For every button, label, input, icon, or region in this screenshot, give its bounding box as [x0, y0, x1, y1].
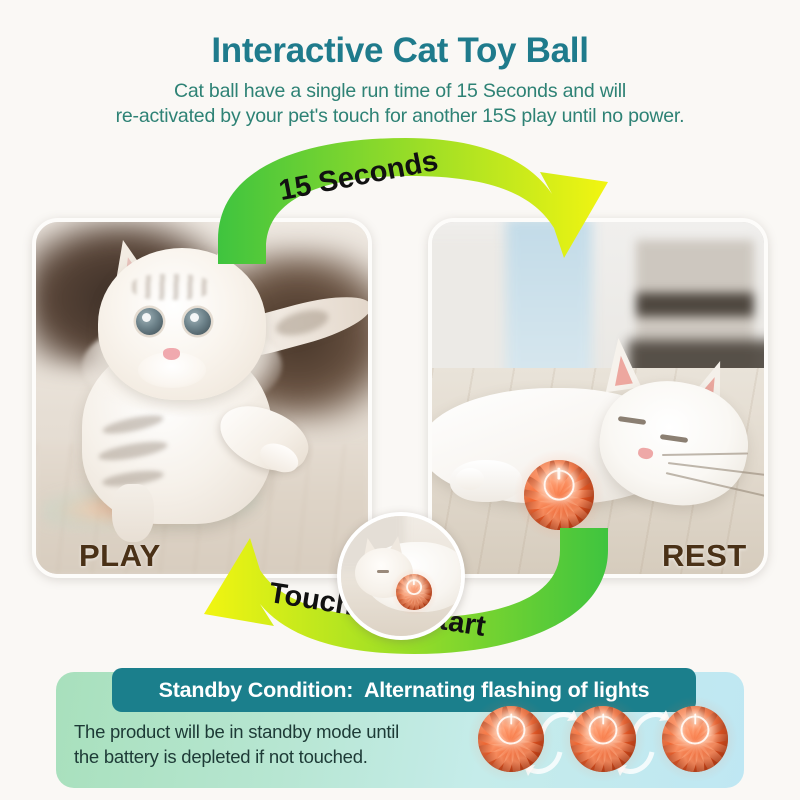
- kitten-eye-left: [136, 308, 163, 335]
- power-icon: [588, 715, 617, 744]
- rest-photo: [432, 222, 764, 574]
- standby-description-line-1: The product will be in standby mode unti…: [74, 720, 494, 745]
- play-photo: [36, 222, 368, 574]
- standby-condition-panel: Standby Condition: Alternating flashing …: [56, 672, 744, 788]
- rest-photo-panel: REST: [428, 218, 768, 578]
- standby-description: The product will be in standby mode unti…: [74, 720, 494, 769]
- subtitle-line-1: Cat ball have a single run time of 15 Se…: [0, 79, 800, 105]
- power-icon: [496, 715, 525, 744]
- page-title: Interactive Cat Toy Ball: [0, 32, 800, 71]
- power-icon: [406, 579, 422, 595]
- cat-toy-ball: [396, 574, 432, 610]
- page-subtitle: Cat ball have a single run time of 15 Se…: [0, 79, 800, 130]
- kitten-eye-right: [184, 308, 211, 335]
- standby-ball-3: [662, 706, 728, 772]
- power-icon: [544, 470, 575, 501]
- touch-to-restart-inset-photo: [337, 512, 465, 640]
- standby-description-line-2: the battery is depleted if not touched.: [74, 745, 494, 770]
- top-flow-arrow: [210, 136, 610, 264]
- cat-paw: [450, 460, 522, 502]
- header: Interactive Cat Toy Ball Cat ball have a…: [0, 0, 800, 130]
- top-arrow-shape: [218, 138, 608, 264]
- cat-toy-ball: [524, 460, 594, 530]
- inset-cat-eye: [377, 570, 389, 573]
- power-icon: [680, 715, 709, 744]
- rest-state-label: REST: [662, 538, 747, 574]
- cat-ear-left: [599, 336, 642, 393]
- play-photo-panel: PLAY: [32, 218, 372, 578]
- play-state-label: PLAY: [79, 538, 161, 574]
- standby-ball-2: [570, 706, 636, 772]
- standby-ball-sequence: [478, 698, 730, 780]
- subtitle-line-2: re-activated by your pet's touch for ano…: [0, 104, 800, 130]
- kitten-forehead-markings: [132, 274, 210, 300]
- kitten-nose: [163, 348, 180, 360]
- kitten-front-leg: [112, 484, 154, 542]
- standby-ball-1: [478, 706, 544, 772]
